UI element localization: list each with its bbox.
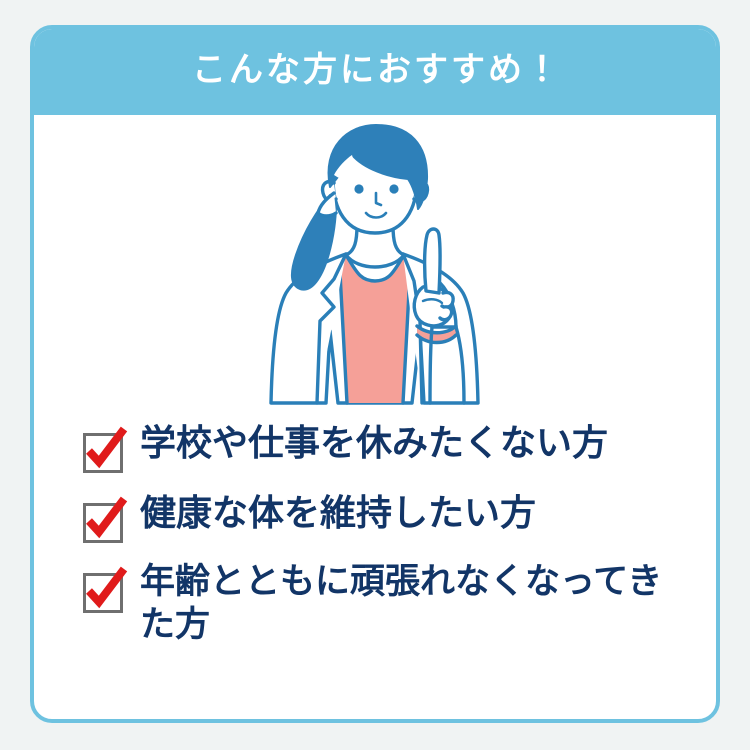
list-item-label: 健康な体を維持したい方 [140, 491, 690, 535]
list-item: 年齢とともに頑張れなくなってきた方 [80, 561, 690, 646]
page-title: こんな方におすすめ！ [188, 53, 562, 87]
list-item: 学校や仕事を休みたくない方 [80, 421, 690, 473]
checkbox-checked-icon [80, 497, 126, 543]
list-item-label: 学校や仕事を休みたくない方 [140, 421, 690, 465]
card-header: こんな方におすすめ！ [30, 25, 720, 115]
list-item: 健康な体を維持したい方 [80, 491, 690, 543]
list-item-label: 年齢とともに頑張れなくなってきた方 [140, 561, 690, 646]
screenshot-root: こんな方におすすめ！ [0, 0, 750, 750]
woman-pointing-up-icon [260, 121, 490, 417]
recommendation-card: こんな方におすすめ！ [30, 25, 720, 723]
checkbox-checked-icon [80, 427, 126, 473]
checkbox-checked-icon [80, 567, 126, 613]
benefits-checklist: 学校や仕事を休みたくない方 健康な体を維持したい方 [34, 415, 716, 719]
illustration-container [34, 115, 716, 415]
